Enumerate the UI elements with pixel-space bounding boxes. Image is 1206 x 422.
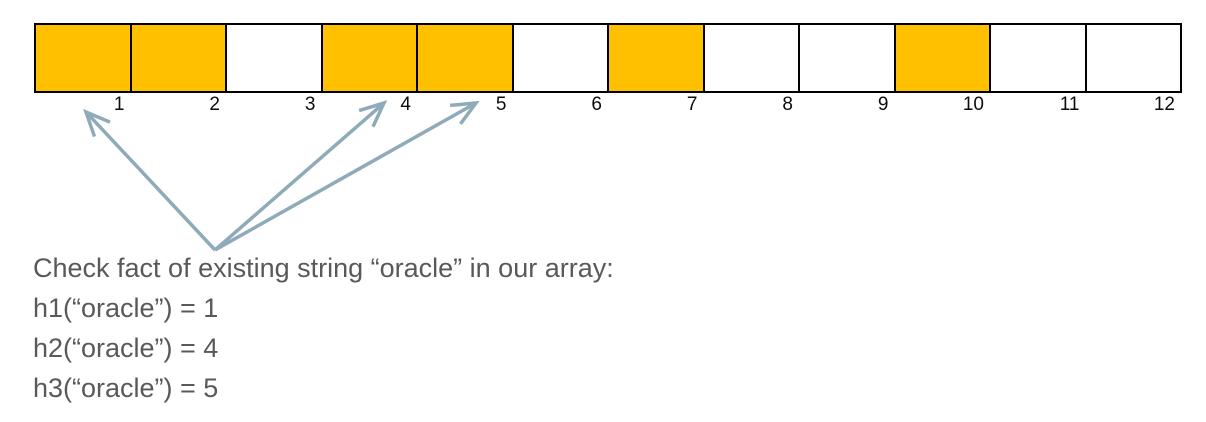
array-index-label-8: 8: [703, 95, 794, 119]
array-index-label-2: 2: [130, 95, 221, 119]
array-index-label-3: 3: [225, 95, 316, 119]
array-index-label-row: 123456789101112: [34, 95, 1180, 119]
array-index-label-11: 11: [989, 95, 1080, 119]
arrow-to-cell-5: [215, 103, 476, 250]
explanation-text-block: Check fact of existing string “oracle” i…: [33, 248, 813, 408]
array-cell-4: [321, 23, 419, 93]
array-index-label-12: 12: [1085, 95, 1176, 119]
array-cell-1: [34, 23, 132, 93]
array-cell-9: [798, 23, 896, 93]
arrow-to-cell-1: [86, 112, 215, 250]
array-cell-11: [989, 23, 1087, 93]
explanation-line-1: Check fact of existing string “oracle” i…: [33, 248, 813, 288]
array-cell-6: [512, 23, 610, 93]
explanation-line-3: h2(“oracle”) = 4: [33, 328, 813, 368]
array-index-label-9: 9: [798, 95, 889, 119]
explanation-line-4: h3(“oracle”) = 5: [33, 368, 813, 408]
array-cell-5: [416, 23, 514, 93]
array-cell-2: [130, 23, 228, 93]
array-index-label-7: 7: [607, 95, 698, 119]
array-index-label-1: 1: [34, 95, 125, 119]
explanation-line-2: h1(“oracle”) = 1: [33, 288, 813, 328]
array-index-label-4: 4: [321, 95, 412, 119]
arrow-to-cell-4: [215, 103, 384, 250]
array-index-label-10: 10: [894, 95, 985, 119]
array-cell-3: [225, 23, 323, 93]
array-cell-8: [703, 23, 801, 93]
hash-table-array: [34, 23, 1180, 93]
array-cell-7: [607, 23, 705, 93]
array-index-label-6: 6: [512, 95, 603, 119]
array-index-label-5: 5: [416, 95, 507, 119]
array-cell-12: [1085, 23, 1183, 93]
array-cell-10: [894, 23, 992, 93]
